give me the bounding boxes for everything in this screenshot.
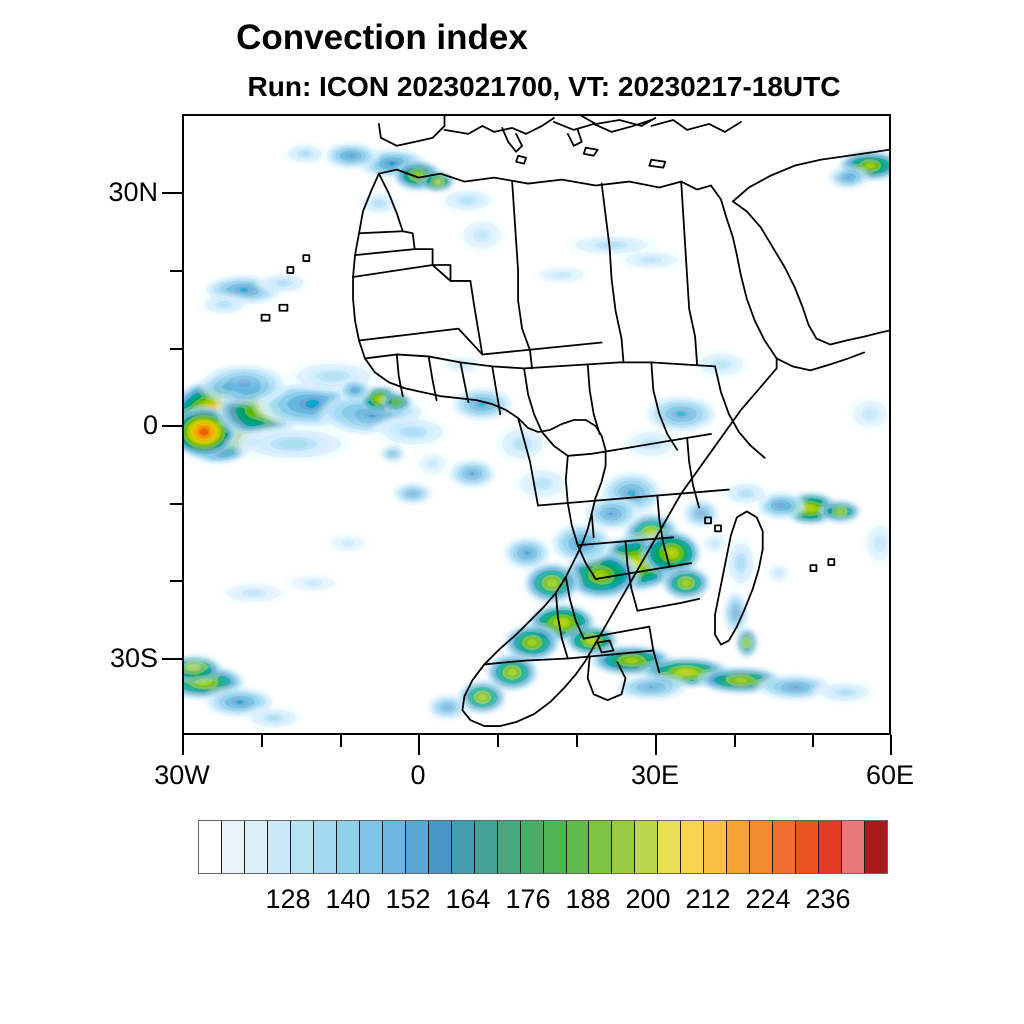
colorbar-segment-2 — [245, 821, 268, 873]
x-tick-40e — [734, 735, 736, 747]
colorbar-segment-9 — [406, 821, 429, 873]
colorbar-segment-26 — [796, 821, 819, 873]
colorbar-segment-11 — [452, 821, 475, 873]
y-tick-15s — [170, 503, 182, 505]
colorbar-segment-3 — [268, 821, 291, 873]
colorbar-segment-20 — [658, 821, 681, 873]
colorbar-tick-236: 236 — [805, 884, 850, 915]
colorbar-segment-8 — [383, 821, 406, 873]
x-tick-10e — [497, 735, 499, 747]
x-tick-label-30e: 30E — [631, 760, 679, 791]
colorbar-segment-0 — [199, 821, 222, 873]
colorbar-segment-13 — [498, 821, 521, 873]
colorbar-tick-188: 188 — [565, 884, 610, 915]
colorbar-tick-labels: 128140152164176188200212224236 — [198, 884, 888, 924]
map-plot-area — [182, 114, 891, 735]
colorbar-segment-18 — [612, 821, 635, 873]
colorbar-segment-25 — [773, 821, 796, 873]
colorbar-segment-27 — [819, 821, 842, 873]
colorbar-segment-7 — [360, 821, 383, 873]
colorbar-segment-6 — [337, 821, 360, 873]
colorbar-segment-29 — [865, 821, 887, 873]
colorbar-segment-28 — [842, 821, 865, 873]
x-tick-label-60e: 60E — [866, 760, 914, 791]
x-tick-label-30w: 30W — [154, 760, 210, 791]
map-svg — [184, 116, 889, 733]
x-tick-0 — [418, 735, 420, 755]
colorbar-segment-17 — [589, 821, 612, 873]
colorbar-tick-152: 152 — [385, 884, 430, 915]
colorbar-segment-22 — [704, 821, 727, 873]
colorbar-tick-128: 128 — [265, 884, 310, 915]
y-tick-30n — [162, 192, 182, 194]
colorbar-segment-14 — [521, 821, 544, 873]
y-tick-label-30n: 30N — [92, 177, 158, 208]
y-tick-0 — [162, 425, 182, 427]
page-title: Convection index — [0, 18, 894, 58]
colorbar-tick-224: 224 — [745, 884, 790, 915]
colorbar-segment-21 — [681, 821, 704, 873]
x-tick-30w — [182, 735, 184, 755]
colorbar — [198, 820, 888, 874]
chart-canvas: Convection index Run: ICON 2023021700, V… — [0, 0, 1024, 1024]
colorbar-segment-10 — [429, 821, 452, 873]
y-tick-15n — [170, 270, 182, 272]
colorbar-segment-5 — [314, 821, 337, 873]
colorbar-segment-19 — [635, 821, 658, 873]
y-tick-30s — [162, 658, 182, 660]
x-tick-20w — [261, 735, 263, 747]
colorbar-segment-23 — [727, 821, 750, 873]
chart-subtitle: Run: ICON 2023021700, VT: 20230217-18UTC — [32, 71, 1024, 103]
colorbar-segment-15 — [544, 821, 567, 873]
colorbar-segment-12 — [475, 821, 498, 873]
colorbar-segment-16 — [567, 821, 590, 873]
x-tick-60e — [890, 735, 892, 755]
y-tick-label-30s: 30S — [92, 643, 158, 674]
x-tick-10w — [340, 735, 342, 747]
x-tick-50e — [812, 735, 814, 747]
convection-field — [184, 142, 889, 731]
colorbar-tick-140: 140 — [325, 884, 370, 915]
y-tick-15n-b — [170, 348, 182, 350]
y-tick-label-0: 0 — [92, 410, 158, 441]
colorbar-tick-200: 200 — [625, 884, 670, 915]
y-tick-22s — [170, 580, 182, 582]
colorbar-tick-212: 212 — [685, 884, 730, 915]
colorbar-tick-176: 176 — [505, 884, 550, 915]
colorbar-segment-4 — [291, 821, 314, 873]
x-tick-30e — [655, 735, 657, 755]
colorbar-segment-24 — [750, 821, 773, 873]
x-tick-20e — [576, 735, 578, 747]
colorbar-segment-1 — [222, 821, 245, 873]
x-tick-label-0: 0 — [410, 760, 425, 791]
colorbar-tick-164: 164 — [445, 884, 490, 915]
